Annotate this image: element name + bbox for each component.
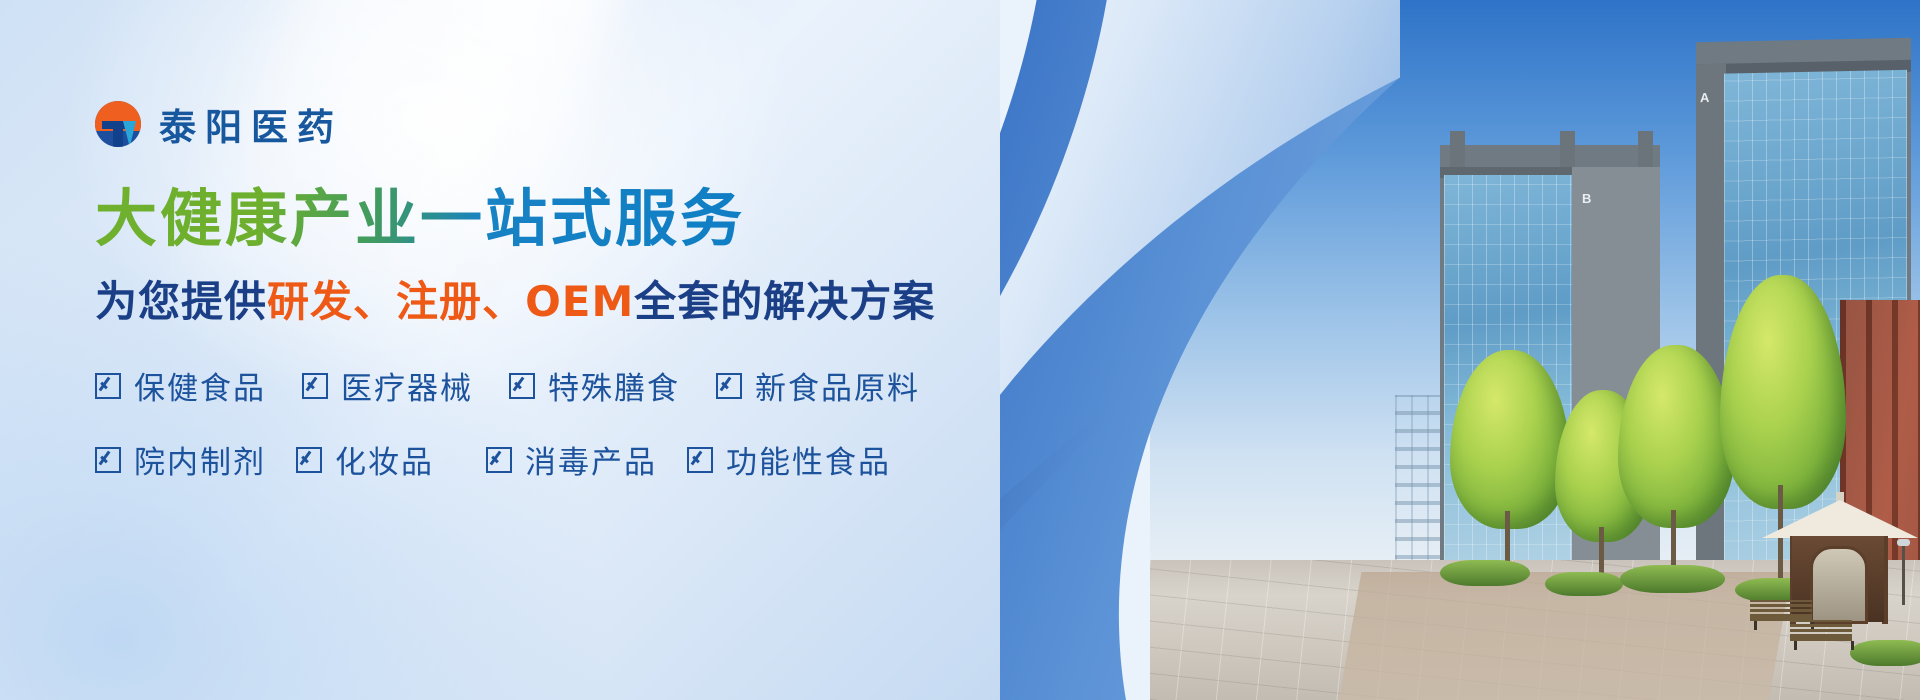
hedge	[1545, 572, 1623, 596]
brand-name: 泰阳医药	[159, 97, 343, 151]
park-bench	[1790, 620, 1852, 650]
feature-label: 化妆品	[335, 437, 434, 482]
subtitle-part1: 为您提供	[95, 277, 267, 326]
taiyang-circle-logo-icon	[95, 101, 141, 147]
checkbox-checked-icon	[509, 373, 535, 399]
ginkgo-tree	[1618, 345, 1734, 580]
feature-item-medical-device[interactable]: 医疗器械	[302, 363, 473, 408]
checkbox-checked-icon	[302, 373, 328, 399]
checkbox-checked-icon	[95, 447, 121, 473]
bench-legs	[1794, 641, 1854, 650]
bench-back	[1790, 620, 1852, 632]
bench-seat	[1790, 634, 1852, 641]
feature-label: 保健食品	[134, 363, 266, 408]
hedge	[1850, 640, 1920, 666]
subtitle: 为您提供研发、注册、OEM全套的解决方案	[95, 268, 935, 329]
pavilion-door	[1810, 546, 1868, 624]
feature-label: 院内制剂	[134, 437, 266, 482]
checkbox-checked-icon	[716, 373, 742, 399]
banner-content: 泰阳医药 大健康产业一站式服务 为您提供研发、注册、OEM全套的解决方案 保健食…	[95, 0, 915, 700]
subtitle-highlight-oem: OEM	[525, 277, 634, 326]
feature-label: 功能性食品	[726, 437, 891, 482]
logo-t-stem	[113, 121, 123, 147]
checkbox-checked-icon	[95, 373, 121, 399]
subtitle-highlight-rd: 研发	[267, 277, 353, 326]
logo-v-shape	[123, 121, 136, 147]
feature-item-functional-food[interactable]: 功能性食品	[687, 437, 891, 482]
feature-item-hospital-preparation[interactable]: 院内制剂	[95, 437, 266, 482]
feature-row-2: 院内制剂 化妆品 消毒产品 功能性食品	[95, 437, 891, 482]
feature-item-new-food-material[interactable]: 新食品原料	[716, 363, 920, 408]
feature-label: 特殊膳食	[548, 363, 680, 408]
bench-back	[1750, 600, 1812, 612]
hedge	[1440, 560, 1530, 586]
feature-item-cosmetics[interactable]: 化妆品	[296, 437, 434, 482]
tree-crown	[1618, 345, 1734, 528]
feature-label: 医疗器械	[341, 363, 473, 408]
tree-crown	[1450, 350, 1570, 529]
feature-label: 新食品原料	[755, 363, 920, 408]
feature-label: 消毒产品	[525, 437, 657, 482]
pavilion-roof	[1762, 500, 1918, 538]
roof-stub	[1560, 131, 1575, 167]
checkbox-checked-icon	[296, 447, 322, 473]
building-left-mark: B	[1582, 191, 1592, 206]
brand-lockup[interactable]: 泰阳医药	[95, 97, 343, 151]
feature-item-special-diet[interactable]: 特殊膳食	[509, 363, 680, 408]
subtitle-sep2: 、	[482, 277, 525, 326]
roof-stub	[1638, 131, 1653, 167]
feature-row-1: 保健食品 医疗器械 特殊膳食 新食品原料	[95, 363, 920, 408]
subtitle-sep1: 、	[353, 277, 396, 326]
building-right-mark: A	[1700, 90, 1710, 105]
roof-stub	[1450, 131, 1465, 167]
ginkgo-tree	[1450, 350, 1570, 580]
subtitle-part2: 全套的解决方案	[634, 277, 935, 326]
headline: 大健康产业一站式服务	[95, 168, 745, 258]
street-lamp	[1902, 545, 1905, 605]
checkbox-checked-icon	[486, 447, 512, 473]
subtitle-highlight-registration: 注册	[396, 277, 482, 326]
feature-item-disinfection-product[interactable]: 消毒产品	[486, 437, 657, 482]
hero-banner: B A	[0, 0, 1920, 700]
checkbox-checked-icon	[687, 447, 713, 473]
hedge	[1620, 565, 1725, 593]
feature-item-health-food[interactable]: 保健食品	[95, 363, 266, 408]
tree-crown	[1720, 275, 1846, 509]
